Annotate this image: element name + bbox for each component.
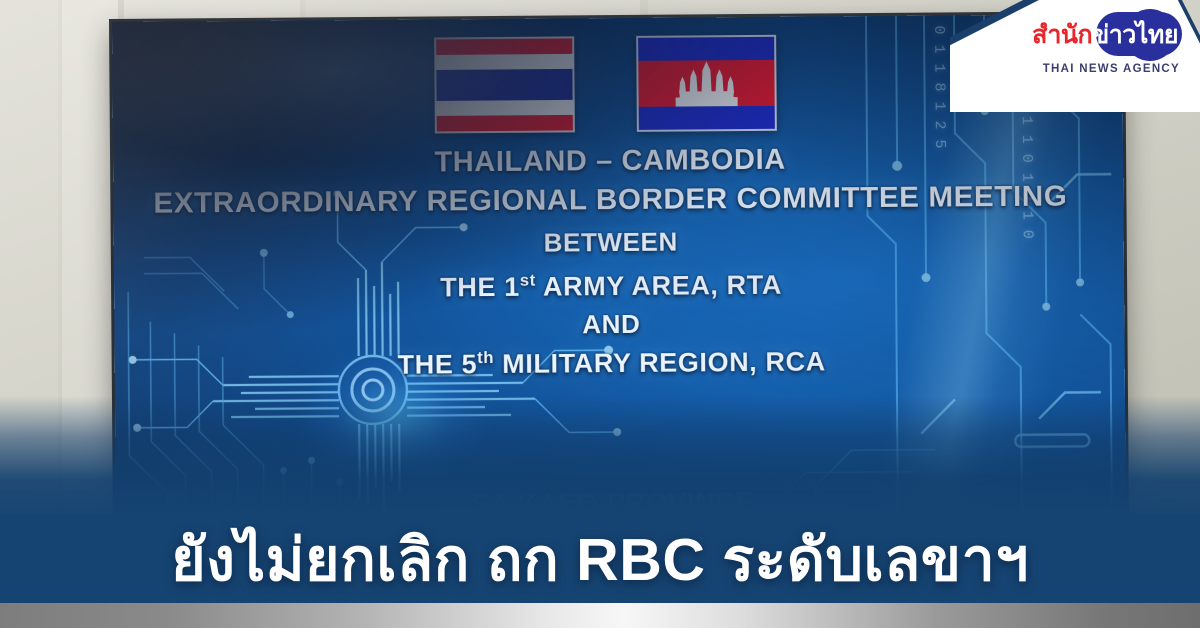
flag-row — [112, 32, 1111, 136]
screenshot-root: 0 1 1 8 1 2 5 1 0 1 9 1 1 1 0 1 2 1 0 — [0, 0, 1200, 628]
caption-headline: ยังไม่ยกเลิก ถก RBC ระดับเลขาฯ — [0, 530, 1200, 592]
sign-title: THAILAND – CAMBODIA — [112, 142, 1115, 181]
sign-province: SA KAEO PROVINCE — [112, 484, 1118, 523]
party-one-post: ARMY AREA, RTA — [536, 270, 782, 302]
sign-text-block: THAILAND – CAMBODIA EXTRAORDINARY REGION… — [112, 142, 1117, 382]
party-two-post: MILITARY REGION, RCA — [494, 347, 826, 380]
sign-between: BETWEEN — [112, 226, 1116, 261]
led-display-panel: 0 1 1 8 1 2 5 1 0 1 9 1 1 1 0 1 2 1 0 — [112, 14, 1126, 527]
sign-and: AND — [112, 307, 1116, 342]
cambodia-flag — [636, 35, 777, 132]
thailand-flag — [434, 36, 575, 133]
party-one-pre: THE 1 — [440, 272, 520, 303]
party-two-pre: THE 5 — [398, 349, 478, 380]
party-one-ordinal: st — [520, 271, 536, 290]
sign-heading: EXTRAORDINARY REGIONAL BORDER COMMITTEE … — [112, 181, 1126, 220]
angkor-wat-icon — [665, 57, 747, 110]
party-two-ordinal: th — [477, 348, 494, 367]
sign-party-two: THE 5th MILITARY REGION, RCA — [112, 344, 1117, 382]
bottom-bar — [0, 603, 1200, 628]
sign-party-one: THE 1st ARMY AREA, RTA — [112, 267, 1116, 305]
